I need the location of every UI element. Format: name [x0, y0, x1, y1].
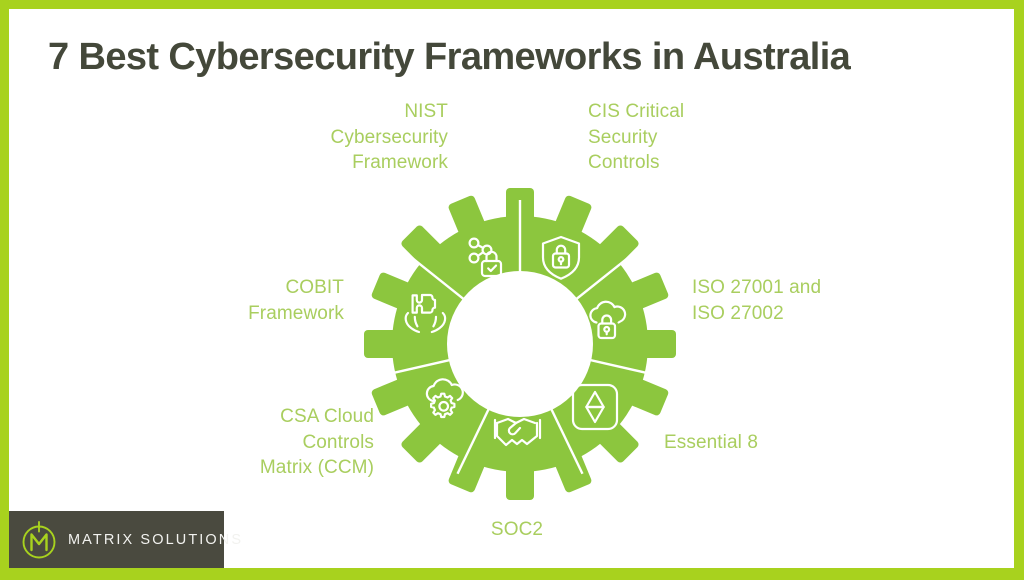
label-csa-line-1: CSA Cloud — [188, 404, 374, 430]
label-iso-27001-27002: ISO 27001 and ISO 27002 — [692, 275, 932, 326]
label-cis-line-2: Security — [588, 125, 808, 151]
border-bottom — [0, 568, 1024, 580]
border-right — [1014, 0, 1024, 580]
gear-svg — [362, 186, 678, 502]
gear-wheel-diagram — [362, 186, 678, 502]
label-cis-critical-security-controls: CIS Critical Security Controls — [588, 99, 808, 176]
border-top — [0, 0, 1024, 9]
label-cis-line-1: CIS Critical — [588, 99, 808, 125]
label-csa-line-3: Matrix (CCM) — [188, 455, 374, 481]
label-nist-line-3: Framework — [238, 150, 448, 176]
label-nist: NIST Cybersecurity Framework — [238, 99, 448, 176]
label-cobit-line-2: Framework — [162, 301, 344, 327]
label-nist-line-2: Cybersecurity — [238, 125, 448, 151]
label-cobit-framework: COBIT Framework — [162, 275, 344, 326]
label-iso-line-2: ISO 27002 — [692, 301, 932, 327]
label-soc2: SOC2 — [424, 517, 610, 543]
border-left — [0, 0, 9, 580]
label-essential-line-1: Essential 8 — [664, 430, 904, 456]
gear-body — [364, 188, 676, 500]
label-cis-line-3: Controls — [588, 150, 808, 176]
label-csa-cloud-controls-matrix: CSA Cloud Controls Matrix (CCM) — [188, 404, 374, 481]
label-iso-line-1: ISO 27001 and — [692, 275, 932, 301]
label-essential-8: Essential 8 — [664, 430, 904, 456]
page-title: 7 Best Cybersecurity Frameworks in Austr… — [48, 34, 988, 80]
brand-logo: MATRIX SOLUTIONS — [9, 511, 224, 568]
label-cobit-line-1: COBIT — [162, 275, 344, 301]
infographic-slide: 7 Best Cybersecurity Frameworks in Austr… — [0, 0, 1024, 580]
brand-logo-text: MATRIX SOLUTIONS — [68, 532, 243, 548]
label-soc2-line-1: SOC2 — [424, 517, 610, 543]
label-nist-line-1: NIST — [238, 99, 448, 125]
label-csa-line-2: Controls — [188, 430, 374, 456]
circled-m-icon — [17, 518, 61, 562]
